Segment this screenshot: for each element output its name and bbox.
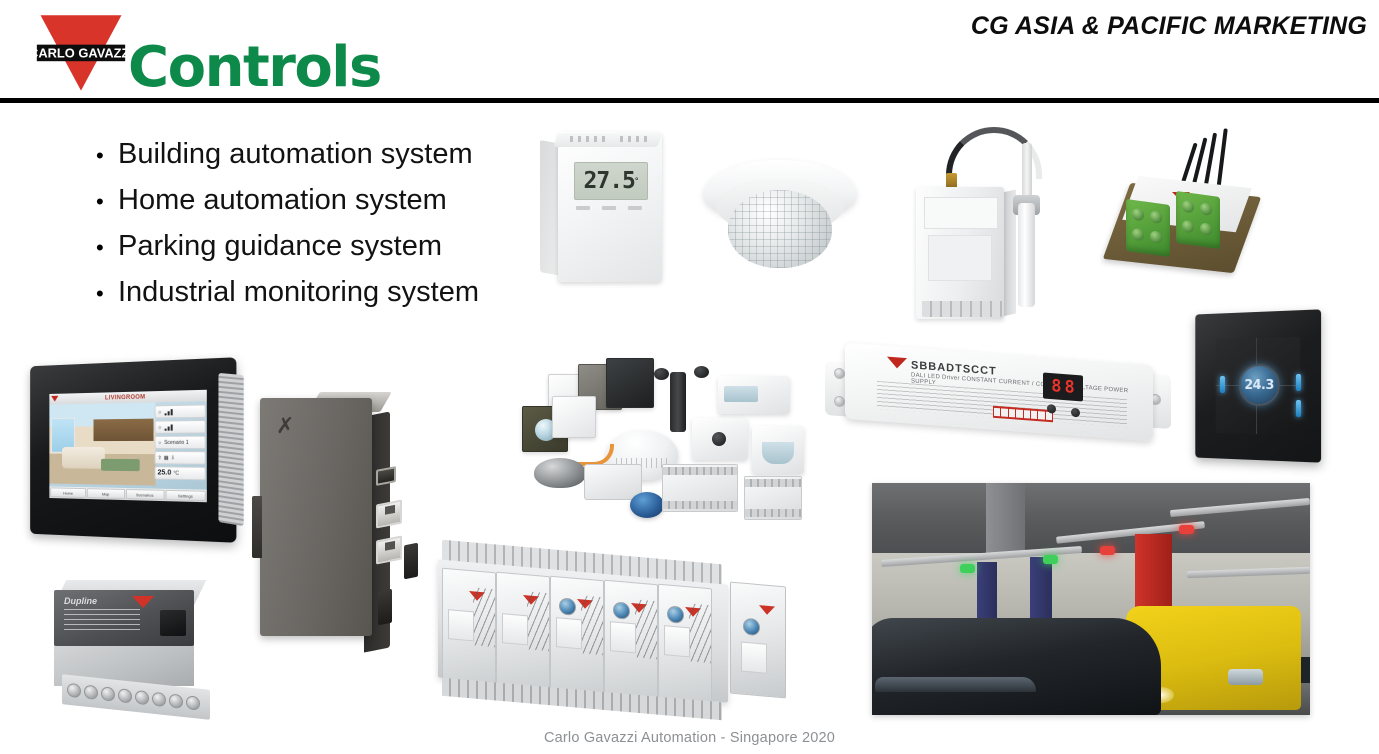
product-din-probe-image (910, 125, 1070, 325)
product-terminal-module-image (1110, 140, 1270, 288)
slide: CARLO GAVAZZI Controls CG ASIA & PACIFIC… (0, 0, 1379, 754)
din-module-separate (730, 582, 786, 699)
product-glass-touch-panel-image: 24.3 (1192, 312, 1332, 464)
thermostat-buttons[interactable] (576, 206, 646, 211)
hmi-temperature-unit: °C (173, 470, 179, 476)
glass-panel-led-right (1296, 374, 1301, 391)
glass-panel-temperature: 24.3 (1244, 377, 1274, 392)
din-module-top-label (924, 197, 998, 229)
list-item: • Building automation system (96, 138, 566, 172)
bullet-marker-icon: • (96, 283, 118, 305)
garage-duct (986, 483, 1025, 557)
product-family-group-image (512, 352, 812, 530)
probe-rod (1018, 203, 1035, 307)
carlo-gavazzi-triangle-icon (132, 596, 154, 608)
dupline-spec-text (64, 609, 140, 633)
din-module (496, 572, 550, 693)
din-module-small (744, 476, 802, 520)
parking-indicator-red (1179, 525, 1194, 534)
bullet-list: • Building automation system • Home auto… (96, 138, 566, 322)
level-bars-icon (164, 408, 172, 415)
bullet-label: Building automation system (118, 138, 473, 171)
gateway-din-clip (252, 496, 262, 558)
bullet-label: Parking guidance system (118, 230, 442, 263)
garage-blue-pillar (1030, 557, 1052, 622)
key-fob (630, 492, 664, 518)
level-bars-icon (164, 423, 172, 430)
hmi-scenario-button[interactable]: ☼ Scenario 1 (155, 436, 206, 450)
carlo-gavazzi-triangle-icon: CARLO GAVAZZI (35, 6, 127, 98)
x-logo-icon: ✗ (276, 416, 298, 438)
bullet-label: Home automation system (118, 184, 447, 217)
list-item: • Parking guidance system (96, 230, 566, 264)
header-divider (0, 98, 1379, 103)
dupline-face: Dupline (54, 590, 194, 646)
terminal-connector (378, 589, 392, 626)
bulb-icon: ☼ (158, 439, 163, 445)
bullet-marker-icon: • (96, 191, 118, 213)
din-module-terminals (922, 301, 1002, 317)
bullet-label: Industrial monitoring system (118, 276, 479, 309)
bulb-icon: ☼ (158, 424, 163, 430)
blind-icon: ▦ (164, 455, 169, 461)
din-module-body (916, 187, 1004, 319)
thermostat-degree-symbol: ° (635, 176, 639, 186)
arrow-down-icon: ⇩ (171, 455, 175, 461)
green-terminal-block (1176, 191, 1220, 249)
pir-square-sensor (752, 426, 804, 474)
pir-wall-sensor (718, 376, 790, 414)
glass-panel-led-left (1220, 376, 1225, 393)
product-gateway-image: ✗ (252, 392, 427, 650)
glass-panel-led-right-lower (1296, 400, 1301, 417)
hmi-screen-title: LIVINGROOM (105, 394, 145, 401)
din-module-wide (662, 464, 738, 512)
glass-panel-display[interactable]: 24.3 (1239, 364, 1280, 406)
ethernet-port-icon[interactable] (376, 499, 402, 528)
din-module (604, 580, 658, 701)
wall-plate-thermostat (552, 396, 596, 438)
hmi-heatsink (218, 373, 243, 526)
dupline-button[interactable] (160, 610, 186, 636)
wall-plate-black (606, 358, 654, 408)
arrow-up-icon: ⇧ (158, 455, 162, 461)
brand-logo: CARLO GAVAZZI Controls (10, 4, 330, 96)
anemometer-cup (654, 368, 669, 380)
wind-sensor (670, 372, 686, 432)
carlo-gavazzi-triangle-icon (887, 357, 907, 369)
driver-digit-right: 8 (1065, 379, 1075, 397)
gateway-body: ✗ (260, 398, 372, 636)
thermostat-temperature: 27.5 (584, 168, 635, 194)
parking-garage-photo (872, 483, 1310, 715)
garage-blue-pillar (977, 562, 997, 622)
product-pir-sensor-image (700, 160, 860, 278)
hmi-room-photo (49, 402, 155, 485)
bullet-marker-icon: • (96, 237, 118, 259)
carlo-gavazzi-triangle-icon (51, 396, 58, 402)
ethernet-port-icon[interactable] (376, 535, 402, 564)
bulb-icon: ☼ (158, 409, 163, 415)
parking-indicator-green (1043, 555, 1058, 564)
hmi-temperature-value: 25.0 (158, 469, 172, 476)
hmi-temperature-button[interactable]: 25.0 °C (155, 466, 206, 480)
hmi-tab-home[interactable]: Home (50, 487, 86, 498)
hmi-screen[interactable]: LIVINGROOM ☼ ☼ (49, 390, 206, 502)
hmi-control-buttons[interactable]: ☼ ☼ ☼ Scenario 1 ⇧ ▦ (155, 404, 206, 480)
product-hmi-panel-image: LIVINGROOM ☼ ☼ (22, 358, 254, 546)
junction-box (584, 464, 642, 500)
usb-port-icon[interactable] (376, 466, 396, 486)
brand-word: Controls (128, 40, 381, 96)
terminal-connector (404, 543, 418, 580)
thermostat-lcd: 27.5 ° (574, 162, 648, 200)
brand-name-text: CARLO GAVAZZI (35, 46, 127, 61)
green-terminal-block (1126, 199, 1170, 257)
pir-dome-lens (728, 190, 832, 268)
din-module (442, 568, 496, 689)
hmi-scenario-label: Scenario 1 (164, 439, 188, 445)
slide-footer: Carlo Gavazzi Automation - Singapore 202… (0, 730, 1379, 746)
hmi-light-button-2[interactable]: ☼ (155, 420, 206, 434)
hmi-tab-scenarios[interactable]: Scenarios (125, 489, 164, 500)
hmi-tab-settings[interactable]: Settings (165, 490, 205, 501)
list-item: • Industrial monitoring system (96, 276, 566, 310)
driver-digit-left: 8 (1051, 378, 1061, 396)
product-din-rail-bank-image (432, 548, 792, 712)
product-thermostat-image: 27.5 ° (540, 132, 665, 284)
hmi-blind-button[interactable]: ⇧ ▦ ⇩ (155, 451, 206, 465)
product-dupline-module-image: Dupline (48, 578, 228, 726)
bullet-marker-icon: • (96, 145, 118, 167)
din-module (550, 576, 604, 697)
hmi-light-button-1[interactable]: ☼ (155, 404, 206, 418)
thermostat-vents (570, 136, 652, 142)
product-dali-driver-image: SBBADTSCCT DALI LED Driver CONSTANT CURR… (825, 340, 1170, 452)
parking-indicator-green (960, 564, 975, 573)
list-item: • Home automation system (96, 184, 566, 218)
page-title: CG ASIA & PACIFIC MARKETING (971, 12, 1367, 41)
parking-indicator-red (1100, 546, 1115, 555)
hmi-tab-map[interactable]: Map (87, 488, 124, 499)
pir-flush-sensor (692, 418, 748, 460)
driver-seven-segment-display: 8 8 (1043, 373, 1083, 402)
trackball-device (534, 458, 586, 488)
dupline-brand-label: Dupline (64, 596, 97, 606)
dark-car (872, 618, 1161, 715)
din-module (658, 584, 712, 705)
anemometer-cup (694, 366, 709, 378)
din-module-front-label (928, 235, 992, 281)
slide-header: CARLO GAVAZZI Controls CG ASIA & PACIFIC… (0, 0, 1379, 100)
